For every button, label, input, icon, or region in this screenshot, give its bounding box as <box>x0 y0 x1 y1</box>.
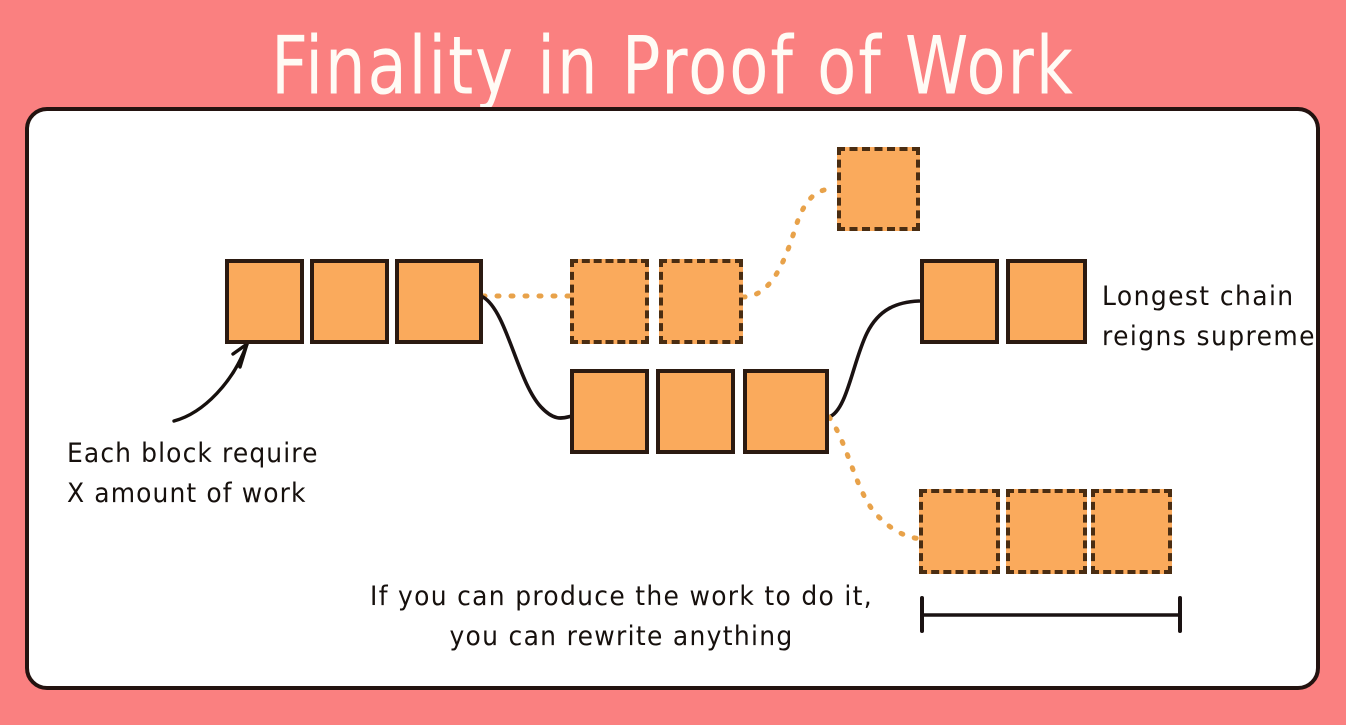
arrow-to-first-block <box>174 344 247 421</box>
block-fork-1[interactable] <box>570 259 649 344</box>
block-middle-2[interactable] <box>656 369 735 454</box>
block-main-3[interactable] <box>395 259 483 344</box>
block-longest-2[interactable] <box>1006 259 1087 344</box>
block-middle-3[interactable] <box>743 369 829 454</box>
block-longest-1[interactable] <box>920 259 999 344</box>
span-bracket <box>922 598 1180 631</box>
block-rewrite-2[interactable] <box>1006 489 1087 574</box>
right-note: Longest chain reigns supreme <box>1102 276 1316 356</box>
dotted-link-middle-to-rewrite <box>829 417 925 539</box>
bottom-note: If you can produce the work to do it, yo… <box>334 576 909 656</box>
block-fork-2[interactable] <box>659 259 743 344</box>
page-title: Finality in Proof of Work <box>20 18 1326 116</box>
block-rewrite-1[interactable] <box>919 489 1000 574</box>
dotted-link-fork-to-orphan <box>743 189 829 297</box>
link-middle-to-longest <box>829 301 919 417</box>
block-main-2[interactable] <box>310 259 389 344</box>
block-rewrite-3[interactable] <box>1091 489 1172 574</box>
block-middle-1[interactable] <box>570 369 649 454</box>
block-main-1[interactable] <box>225 259 304 344</box>
left-note: Each block require X amount of work <box>67 433 319 513</box>
block-orphan-top[interactable] <box>837 147 920 231</box>
arrow-head-first-block <box>233 344 247 367</box>
link-main-to-middle <box>483 297 572 418</box>
diagram-card: Each block require X amount of work Long… <box>25 107 1320 690</box>
diagram-root: Finality in Proof of Work <box>0 0 1346 725</box>
